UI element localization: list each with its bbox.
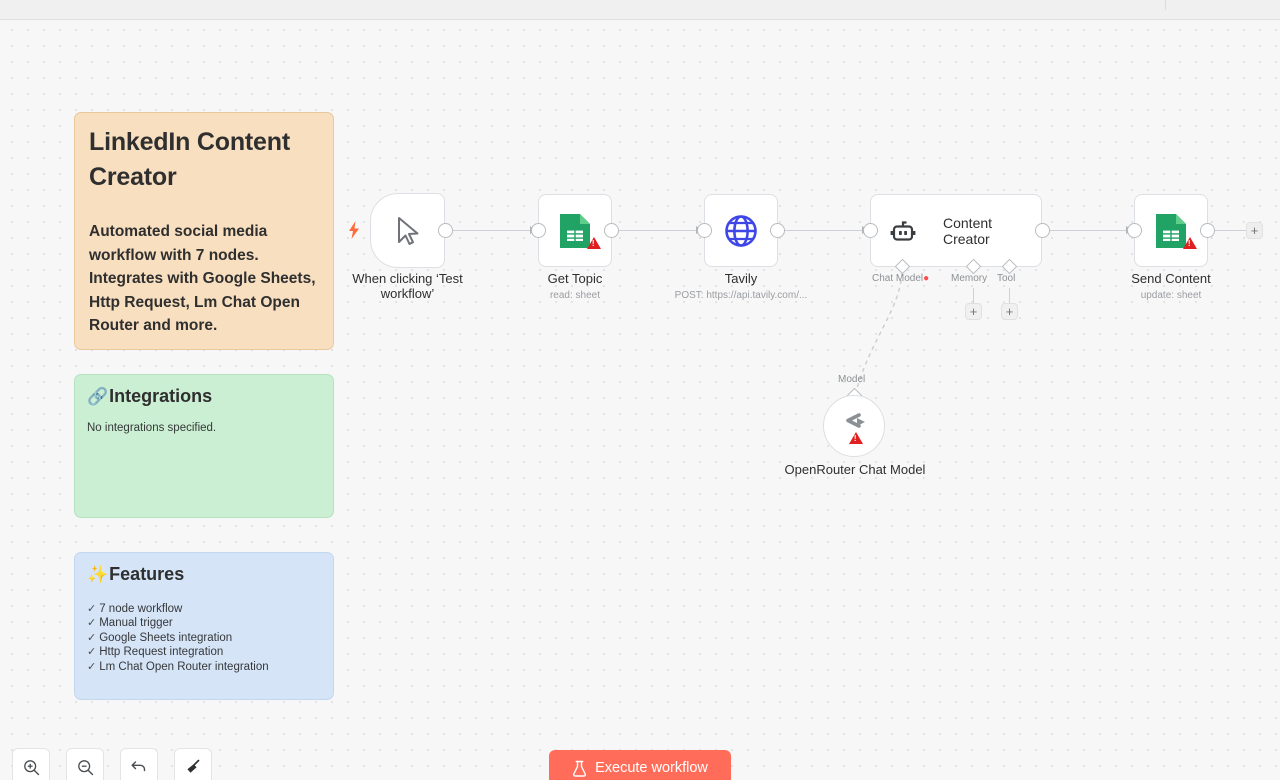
connection-wire	[778, 230, 870, 231]
required-indicator: ●	[923, 273, 929, 284]
check-icon: ✓	[87, 661, 96, 673]
globe-icon	[721, 211, 761, 251]
check-icon: ✓	[87, 632, 96, 644]
flask-icon	[572, 760, 587, 777]
feature-text: Manual trigger	[99, 617, 173, 629]
connection-wire	[1042, 230, 1134, 231]
list-item: ✓7 node workflow	[87, 602, 321, 616]
node-tavily[interactable]	[704, 194, 778, 267]
feature-text: Http Request integration	[99, 646, 223, 658]
node-openrouter-chat-model[interactable]	[823, 395, 885, 457]
node-send-content[interactable]	[1134, 194, 1208, 267]
zoom-in-icon	[23, 759, 40, 776]
add-memory-button[interactable]: +	[965, 303, 982, 320]
port-label-chat-model: Chat Model●	[872, 273, 929, 285]
feature-text: 7 node workflow	[99, 603, 182, 615]
list-item: ✓Google Sheets integration	[87, 631, 321, 645]
sticky-title-body: Automated social media workflow with 7 n…	[89, 220, 319, 338]
node-input-port[interactable]	[697, 223, 712, 238]
node-manual-trigger[interactable]	[370, 193, 445, 268]
node-error-badge[interactable]	[587, 237, 601, 249]
node-label-manual-trigger: When clicking ‘Test workflow’	[330, 271, 485, 301]
port-label-memory: Memory	[951, 273, 987, 285]
features-heading: ✨Features	[87, 563, 321, 586]
node-label-content-creator: Content Creator	[943, 215, 1041, 247]
undo-icon	[130, 758, 148, 776]
list-item: ✓Http Request integration	[87, 645, 321, 659]
sticky-title-heading: LinkedIn Content Creator	[89, 125, 319, 194]
node-output-port[interactable]	[438, 223, 453, 238]
check-icon: ✓	[87, 617, 96, 629]
check-icon: ✓	[87, 603, 96, 615]
node-input-port[interactable]	[1127, 223, 1142, 238]
sticky-note-title[interactable]: LinkedIn Content Creator Automated socia…	[74, 112, 334, 350]
add-node-button[interactable]: +	[1246, 222, 1263, 239]
editor-tab-bar	[0, 0, 1280, 20]
node-subtitle-send-content: update: sheet	[1096, 289, 1246, 302]
list-item: ✓Manual trigger	[87, 616, 321, 630]
sticky-note-features[interactable]: ✨Features ✓7 node workflow ✓Manual trigg…	[74, 552, 334, 700]
node-error-badge[interactable]	[849, 432, 863, 444]
integrations-heading: 🔗Integrations	[87, 385, 321, 408]
features-list: ✓7 node workflow ✓Manual trigger ✓Google…	[87, 602, 321, 674]
header-divider	[1165, 0, 1166, 10]
node-output-port[interactable]	[1200, 223, 1215, 238]
node-content-creator[interactable]: Content Creator	[870, 194, 1042, 267]
add-tool-button[interactable]: +	[1001, 303, 1018, 320]
node-error-badge[interactable]	[1183, 237, 1197, 249]
port-label-chat-model-text: Chat Model	[872, 273, 923, 284]
zoom-out-button[interactable]	[66, 748, 104, 780]
zoom-in-button[interactable]	[12, 748, 50, 780]
sticky-note-integrations[interactable]: 🔗Integrations No integrations specified.	[74, 374, 334, 518]
ai-agent-robot-icon	[889, 217, 917, 245]
integrations-heading-text: Integrations	[109, 385, 212, 408]
node-output-port[interactable]	[1035, 223, 1050, 238]
node-subtitle-tavily: POST: https://api.tavily.com/...	[630, 289, 852, 302]
connection-wire	[612, 230, 704, 231]
node-label-tavily: Tavily	[666, 271, 816, 286]
link-icon: 🔗	[87, 386, 108, 407]
node-label-openrouter-chat-model: OpenRouter Chat Model	[780, 462, 930, 477]
broom-icon	[184, 758, 202, 776]
port-label-tool: Tool	[997, 273, 1015, 285]
node-input-port[interactable]	[863, 223, 878, 238]
features-heading-text: Features	[109, 563, 184, 586]
node-subtitle-get-topic: read: sheet	[500, 289, 650, 302]
tidy-up-button[interactable]	[174, 748, 212, 780]
reset-zoom-button[interactable]	[120, 748, 158, 780]
execute-workflow-label: Execute workflow	[595, 760, 708, 776]
node-get-topic[interactable]	[538, 194, 612, 267]
list-item: ✓Lm Chat Open Router integration	[87, 660, 321, 674]
lightning-bolt-icon	[347, 221, 361, 239]
node-label-send-content: Send Content	[1096, 271, 1246, 286]
node-input-port[interactable]	[531, 223, 546, 238]
feature-text: Google Sheets integration	[99, 632, 232, 644]
node-label-get-topic: Get Topic	[500, 271, 650, 286]
execute-workflow-button[interactable]: Execute workflow	[549, 750, 731, 780]
feature-text: Lm Chat Open Router integration	[99, 661, 268, 673]
integrations-body: No integrations specified.	[87, 422, 321, 436]
zoom-out-icon	[77, 759, 94, 776]
check-icon: ✓	[87, 646, 96, 658]
connection-label-model: Model	[838, 374, 865, 386]
cursor-pointer-icon	[393, 215, 423, 247]
node-output-port[interactable]	[770, 223, 785, 238]
connection-wire	[446, 230, 538, 231]
sparkles-icon: ✨	[87, 564, 108, 585]
node-output-port[interactable]	[604, 223, 619, 238]
n8n-workflow-editor: Editor Executions Evaluations LinkedIn C…	[0, 0, 1280, 780]
